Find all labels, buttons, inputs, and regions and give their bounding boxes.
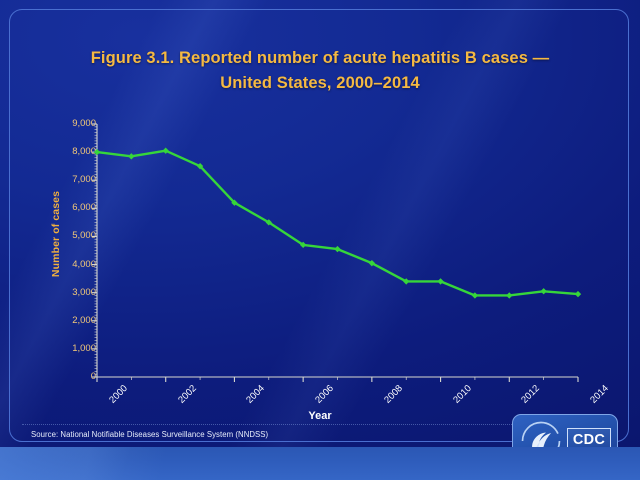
footer-band	[0, 447, 640, 480]
line-chart: Number of cases 9,0008,0007,0006,0005,00…	[0, 0, 640, 480]
source-note: Source: National Notifiable Diseases Sur…	[31, 430, 268, 439]
footer-swoosh	[0, 447, 210, 480]
x-axis-title: Year	[230, 410, 410, 422]
plot-svg	[0, 0, 640, 480]
slide-canvas: Figure 3.1. Reported number of acute hep…	[0, 0, 640, 480]
